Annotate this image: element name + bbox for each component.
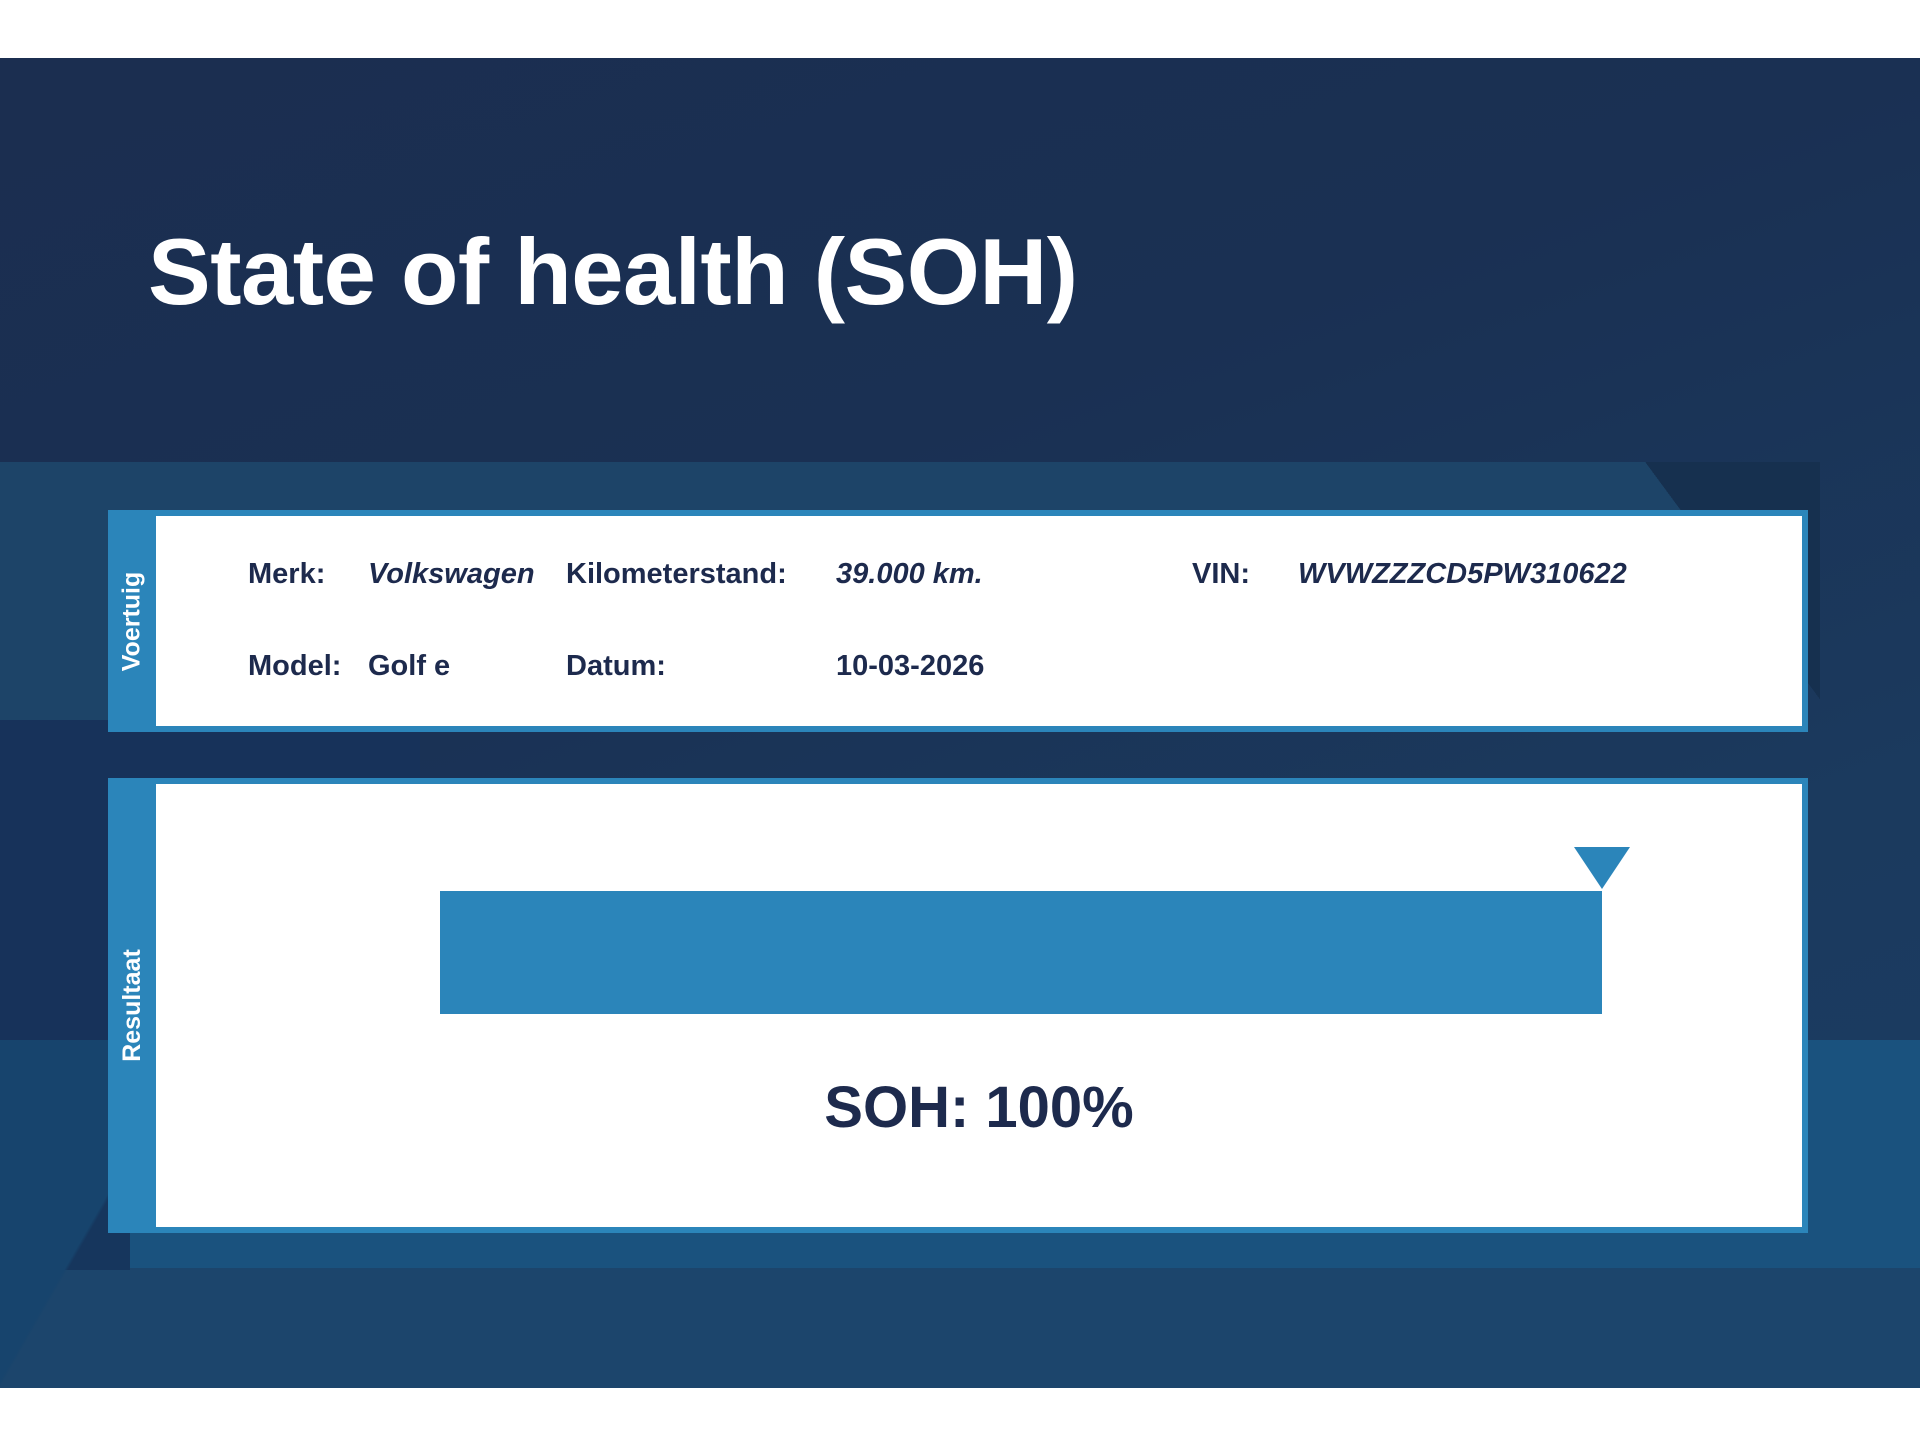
field-label-merk: Merk:	[248, 558, 325, 591]
vehicle-panel-tab: Voertuig	[108, 510, 156, 732]
field-value-model: Golf e	[368, 650, 450, 683]
vehicle-panel-body: Merk: Volkswagen Kilometerstand: 39.000 …	[156, 516, 1802, 726]
soh-value-label: SOH: 100%	[156, 1074, 1802, 1141]
field-label-vin: VIN:	[1192, 558, 1250, 591]
page-title: State of health (SOH)	[148, 218, 1078, 326]
field-value-merk: Volkswagen	[368, 558, 535, 591]
field-label-datum: Datum:	[566, 650, 666, 683]
vehicle-field-grid: Merk: Volkswagen Kilometerstand: 39.000 …	[156, 516, 1802, 726]
result-panel: Resultaat SOH: 100%	[108, 778, 1808, 1233]
slide-root: State of health (SOH) Voertuig Merk: Vol…	[0, 0, 1920, 1440]
field-value-datum: 10-03-2026	[836, 650, 984, 683]
soh-bar	[440, 891, 1602, 1014]
field-label-model: Model:	[248, 650, 341, 683]
field-value-kilometerstand: 39.000 km.	[836, 558, 983, 591]
field-label-kilometerstand: Kilometerstand:	[566, 558, 787, 591]
result-panel-tab: Resultaat	[108, 778, 156, 1233]
result-panel-tab-label: Resultaat	[118, 949, 147, 1062]
background-ribbon-lower	[0, 1268, 1920, 1388]
vehicle-panel-tab-label: Voertuig	[118, 571, 147, 671]
field-value-vin: WVWZZZCD5PW310622	[1298, 558, 1627, 591]
vehicle-panel: Voertuig Merk: Volkswagen Kilometerstand…	[108, 510, 1808, 732]
soh-marker-triangle-down-icon	[1574, 847, 1630, 889]
result-panel-body: SOH: 100%	[156, 784, 1802, 1227]
